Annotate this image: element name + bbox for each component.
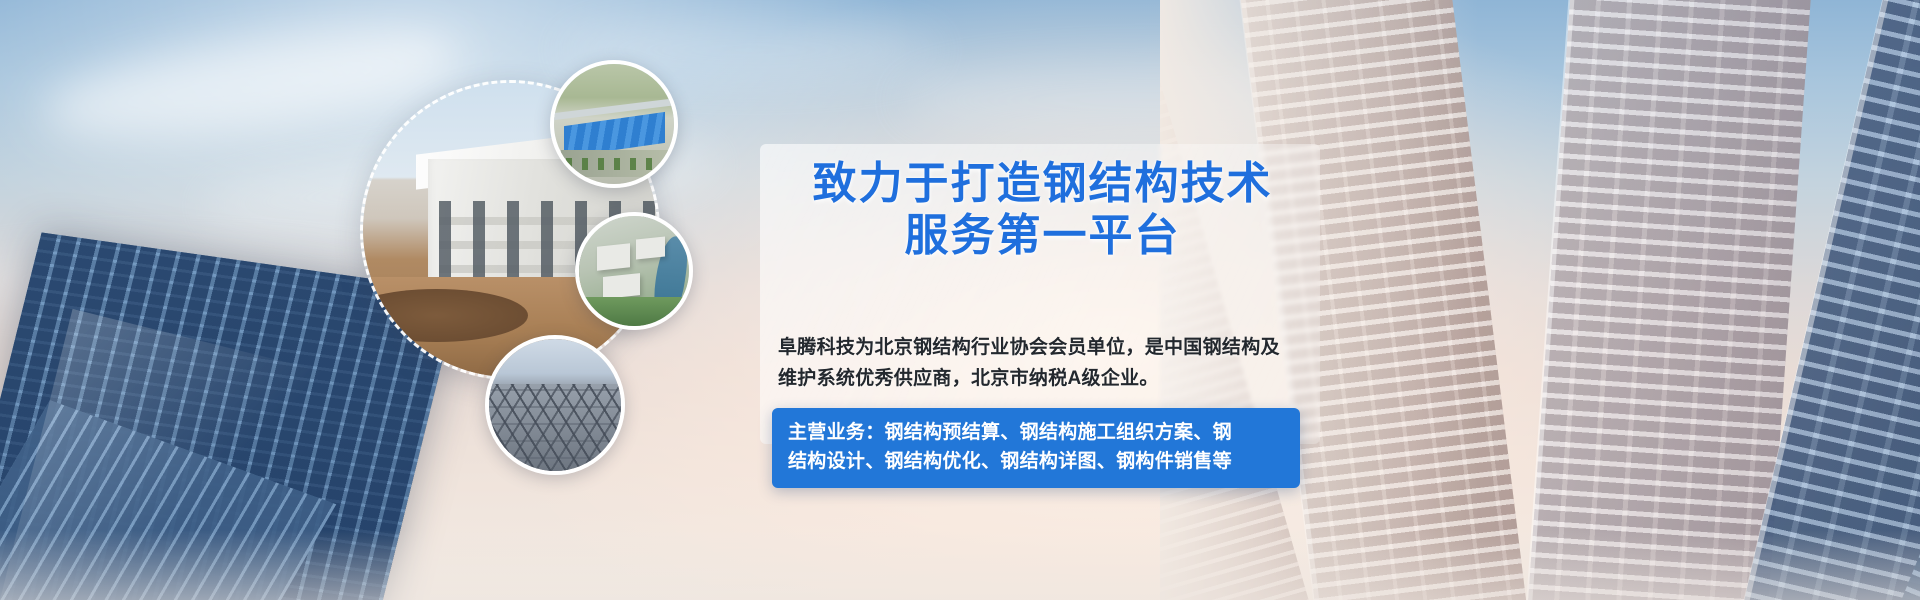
campus-building <box>636 236 665 259</box>
hero-banner: 致力于打造钢结构技术 服务第一平台 阜腾科技为北京钢结构行业协会会员单位，是中国… <box>0 0 1920 600</box>
thumb-photo-circle-2 <box>575 212 693 330</box>
business-scope-line-1: 主营业务：钢结构预结算、钢结构施工组织方案、钢 <box>788 418 1286 447</box>
aerial-industrial-campus-photo <box>579 216 689 326</box>
headline-line-2: 服务第一平台 <box>770 210 1315 262</box>
campus-building <box>603 273 640 299</box>
headline-line-1: 致力于打造钢结构技术 <box>813 158 1273 209</box>
business-scope-line-2: 结构设计、钢结构优化、钢结构详图、钢构件销售等 <box>788 447 1286 476</box>
thumb-photo-circle-3 <box>485 335 625 475</box>
steel-truss-lattice <box>485 384 625 475</box>
photo-circle-cluster <box>360 60 740 480</box>
campus-building <box>597 243 630 271</box>
building-dirt-mound <box>360 289 528 342</box>
aerial-trees <box>566 158 662 170</box>
aerial-factory-blue-roof-photo <box>554 64 674 184</box>
steel-space-frame-truss-photo <box>489 339 621 471</box>
page-title: 致力于打造钢结构技术 服务第一平台 <box>770 158 1315 262</box>
business-scope-callout: 主营业务：钢结构预结算、钢结构施工组织方案、钢 结构设计、钢结构优化、钢结构详图… <box>772 408 1300 488</box>
intro-paragraph: 阜腾科技为北京钢结构行业协会会员单位，是中国钢结构及维护系统优秀供应商，北京市纳… <box>778 333 1298 395</box>
campus-greenery <box>579 297 689 326</box>
thumb-photo-circle-1 <box>550 60 678 188</box>
